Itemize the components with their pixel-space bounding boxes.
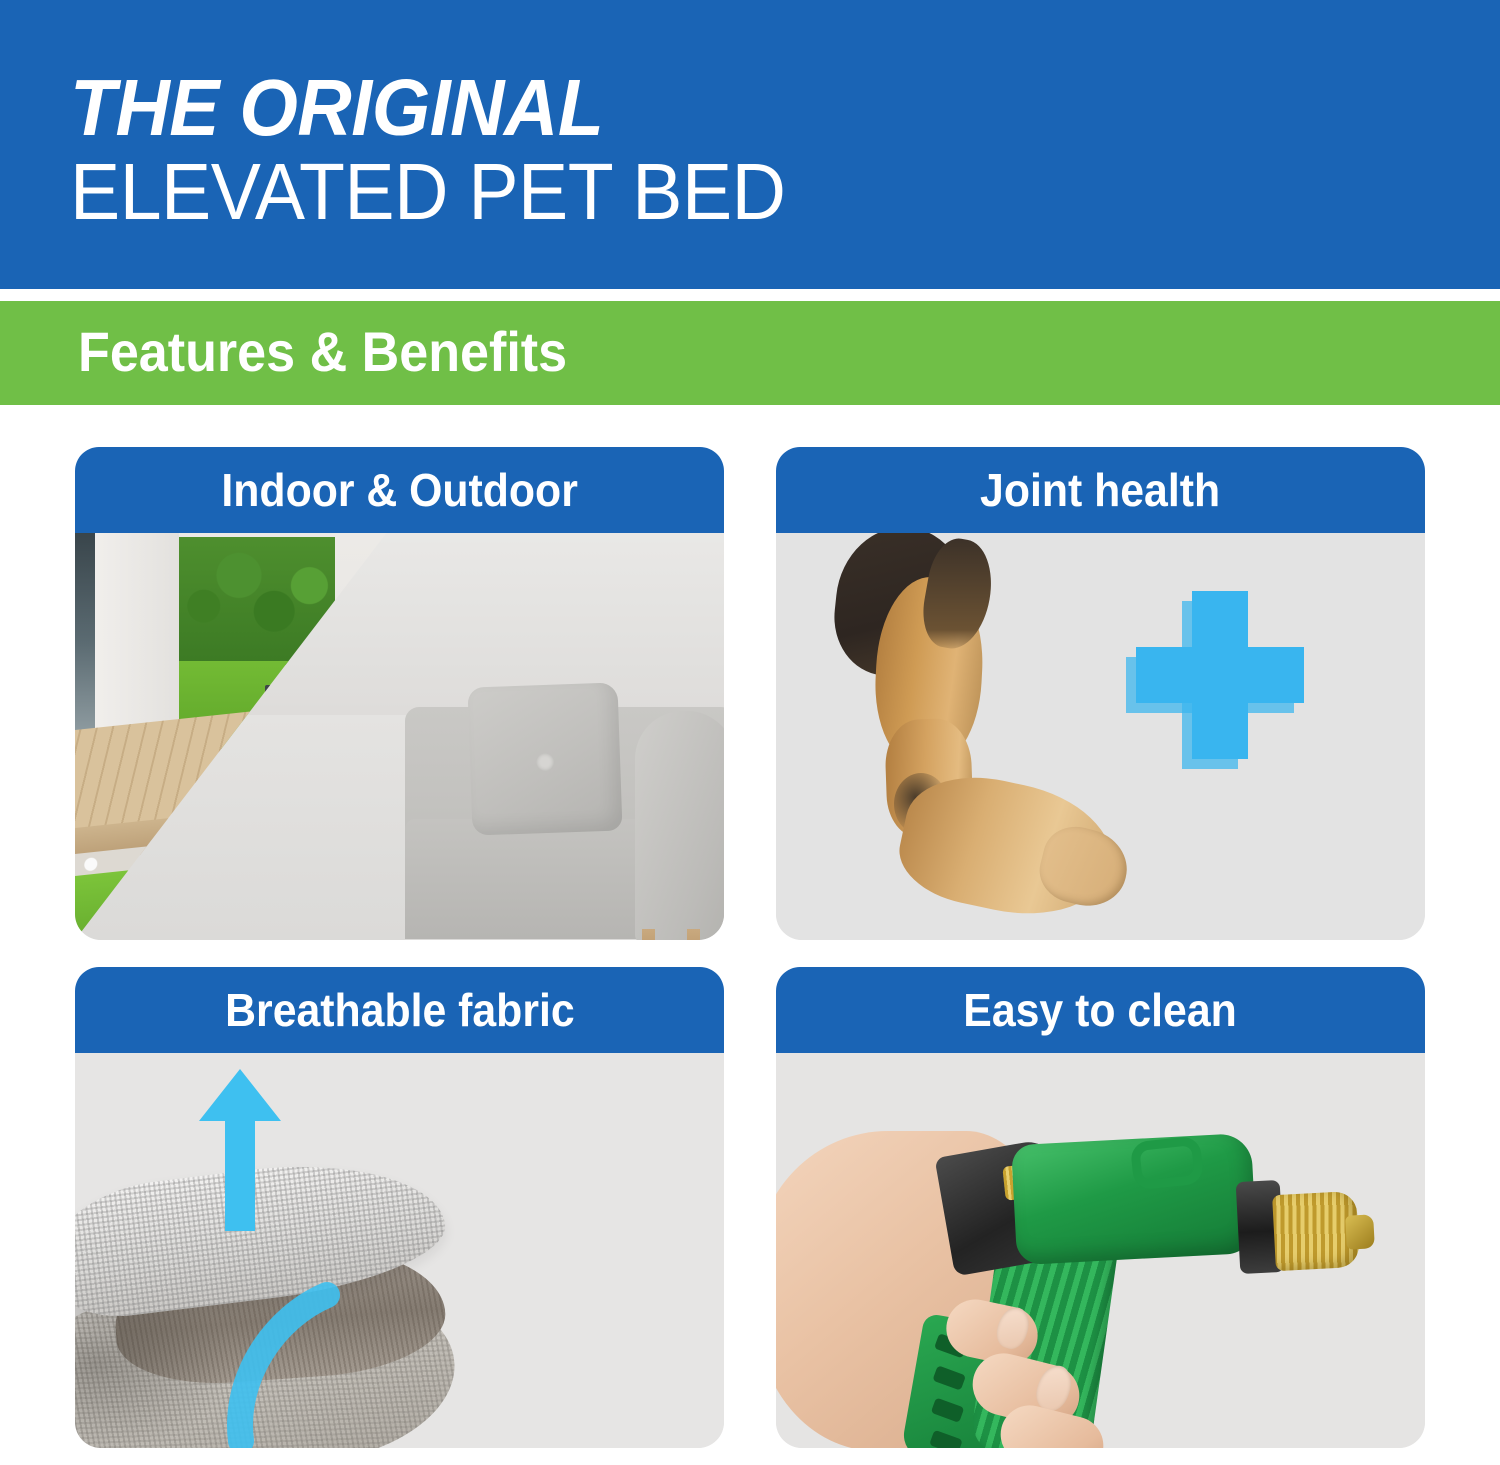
dog-leg-medical-cross xyxy=(776,533,1425,940)
feature-card-header: Joint health xyxy=(776,447,1425,533)
feature-card-title: Easy to clean xyxy=(964,984,1237,1036)
airflow-curve-icon xyxy=(223,1281,363,1448)
feature-card-easy-to-clean[interactable]: Easy to clean xyxy=(776,967,1425,1448)
feature-card-indoor-outdoor[interactable]: Indoor & Outdoor xyxy=(75,447,724,940)
airflow-arrow-icon xyxy=(185,1063,295,1223)
fabric-shadow xyxy=(75,1303,235,1448)
mesh-fabric-airflow xyxy=(75,1053,724,1448)
sofa-cushion xyxy=(467,682,622,835)
cushion-button xyxy=(536,753,555,772)
indoor-outdoor-split-scene xyxy=(75,533,724,940)
feature-card-breathable-fabric[interactable]: Breathable fabric xyxy=(75,967,724,1448)
medical-cross-icon xyxy=(1136,591,1304,759)
product-title-banner: THE ORIGINAL ELEVATED PET BED xyxy=(0,0,1500,289)
house-window xyxy=(75,533,95,733)
sofa-leg-right xyxy=(687,929,700,940)
sofa-leg-left xyxy=(642,929,655,940)
product-title-secondary: ELEVATED PET BED xyxy=(70,152,785,232)
easy-clean-illustration xyxy=(776,1053,1425,1448)
features-section-title: Features & Benefits xyxy=(78,319,567,385)
sofa-armrest xyxy=(635,711,724,940)
grip-vent-slot xyxy=(929,1430,963,1448)
nozzle-hang-hook xyxy=(1130,1135,1205,1190)
feature-card-header: Breathable fabric xyxy=(75,967,724,1053)
product-title-primary: THE ORIGINAL xyxy=(70,68,603,148)
feature-card-joint-health[interactable]: Joint health xyxy=(776,447,1425,940)
feature-card-header: Indoor & Outdoor xyxy=(75,447,724,533)
breathable-fabric-illustration xyxy=(75,1053,724,1448)
brass-nozzle-nose xyxy=(1345,1214,1375,1249)
feature-card-title: Joint health xyxy=(980,464,1220,516)
grip-vent-slot xyxy=(931,1398,965,1423)
cross-horizontal-bar xyxy=(1136,647,1304,703)
feature-card-header: Easy to clean xyxy=(776,967,1425,1053)
features-section-banner: Features & Benefits xyxy=(0,301,1500,405)
feature-card-grid: Indoor & Outdoor xyxy=(0,405,1500,1465)
grip-vent-slot xyxy=(932,1365,966,1390)
feature-card-title: Indoor & Outdoor xyxy=(221,464,577,516)
split-scene-illustration xyxy=(75,533,724,940)
hand-holding-hose-nozzle xyxy=(776,1053,1425,1448)
joint-health-illustration xyxy=(776,533,1425,940)
feature-card-title: Breathable fabric xyxy=(225,984,574,1036)
